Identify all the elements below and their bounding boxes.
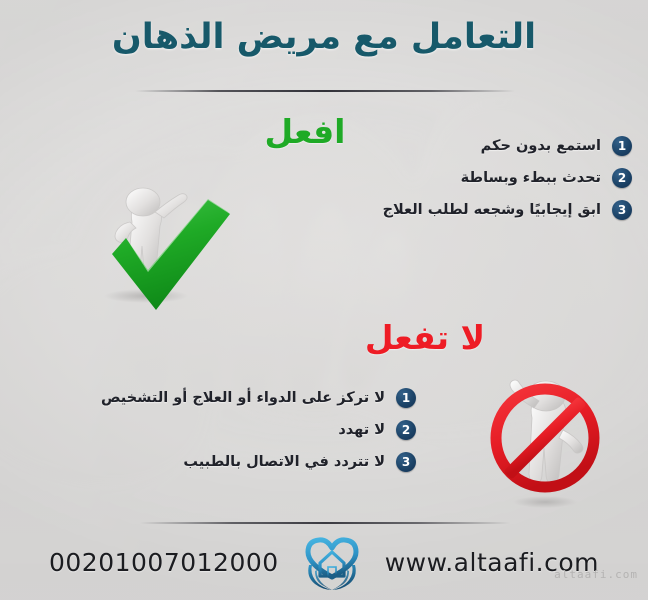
- item-text: لا تهدد: [338, 422, 385, 438]
- item-number-badge: 2: [612, 168, 632, 188]
- phone-number: 00201007012000: [49, 548, 279, 577]
- figure-with-prohibition-illustration: [470, 360, 620, 510]
- item-text: استمع بدون حكم: [481, 138, 601, 154]
- page-title: التعامل مع مريض الذهان: [0, 16, 648, 60]
- item-text: ابق إيجابيًا وشجعه لطلب العلاج: [383, 202, 601, 218]
- figure-with-checkmark-illustration: [88, 150, 268, 310]
- list-item: 1 استمع بدون حكم: [362, 136, 632, 156]
- watermark: altaafi.com: [554, 568, 638, 581]
- do-items-list: 1 استمع بدون حكم 2 تحدث ببطء وبساطة 3 اب…: [362, 136, 632, 232]
- item-number-badge: 1: [396, 388, 416, 408]
- footer: 00201007012000: [0, 532, 648, 592]
- infographic-poster: التعامل مع مريض الذهان افعل: [0, 0, 648, 600]
- item-text: لا تركز على الدواء أو العلاج أو التشخيص: [101, 390, 385, 406]
- list-item: 2 لا تهدد: [26, 420, 416, 440]
- dont-items-list: 1 لا تركز على الدواء أو العلاج أو التشخي…: [26, 388, 416, 484]
- page-title-text: التعامل مع مريض الذهان: [0, 16, 648, 60]
- heart-house-hands-logo-icon: [301, 531, 363, 593]
- title-divider: [135, 90, 515, 92]
- dont-section-heading: لا تفعل: [355, 318, 495, 357]
- list-item: 3 ابق إيجابيًا وشجعه لطلب العلاج: [362, 200, 632, 220]
- item-text: لا تتردد في الاتصال بالطبيب: [183, 454, 385, 470]
- item-number-badge: 2: [396, 420, 416, 440]
- do-section-heading: افعل: [245, 112, 365, 151]
- list-item: 1 لا تركز على الدواء أو العلاج أو التشخي…: [26, 388, 416, 408]
- item-number-badge: 3: [612, 200, 632, 220]
- list-item: 2 تحدث ببطء وبساطة: [362, 168, 632, 188]
- footer-divider: [140, 522, 510, 524]
- list-item: 3 لا تتردد في الاتصال بالطبيب: [26, 452, 416, 472]
- item-text: تحدث ببطء وبساطة: [461, 170, 601, 186]
- item-number-badge: 1: [612, 136, 632, 156]
- item-number-badge: 3: [396, 452, 416, 472]
